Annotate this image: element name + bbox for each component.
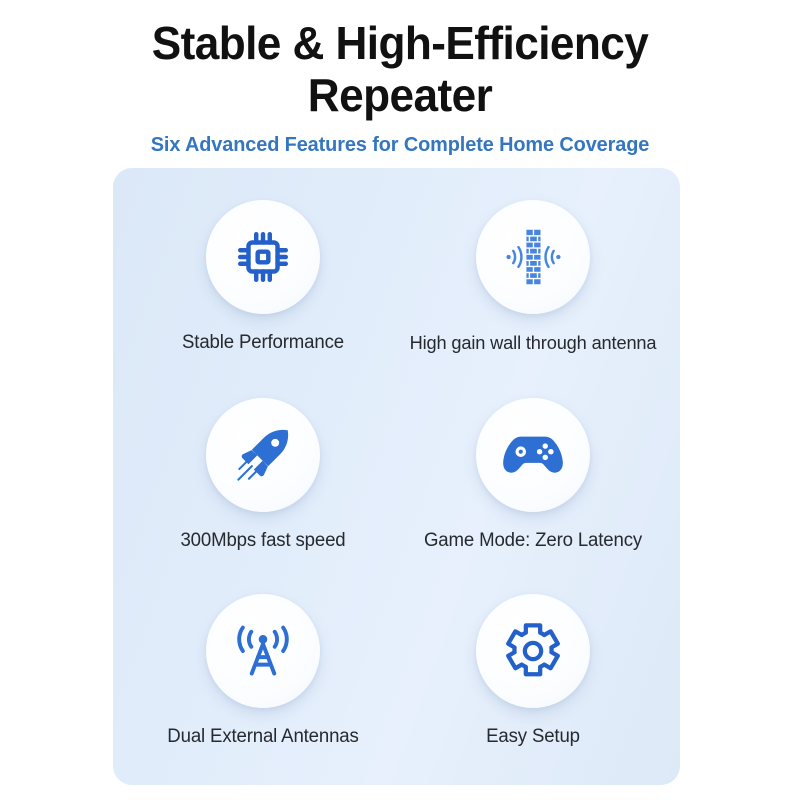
feature-icon-circle	[206, 398, 320, 512]
rocket-icon	[232, 424, 294, 486]
page-title: Stable & High-Efficiency Repeater	[16, 0, 784, 122]
broadcast-tower-icon	[231, 621, 295, 681]
page-subtitle: Six Advanced Features for Complete Home …	[12, 122, 788, 157]
feature-fast-speed[interactable]: 300Mbps fast speed	[133, 398, 393, 553]
feature-dual-antennas[interactable]: Dual External Antennas	[133, 594, 393, 749]
features-card: Stable Performance	[113, 168, 680, 785]
brick-wall-signal-icon	[500, 226, 566, 288]
feature-label: Stable Performance	[136, 331, 391, 355]
feature-label: 300Mbps fast speed	[136, 529, 391, 553]
feature-icon-circle	[476, 398, 590, 512]
feature-icon-circle	[206, 594, 320, 708]
game-controller-icon	[501, 427, 565, 483]
gear-icon	[502, 620, 564, 682]
feature-label: High gain wall through antenna	[394, 331, 672, 354]
feature-stable-performance[interactable]: Stable Performance	[133, 200, 393, 355]
feature-icon-circle	[206, 200, 320, 314]
feature-label: Easy Setup	[406, 725, 661, 749]
page-title-line-2: Repeater	[16, 70, 784, 122]
feature-wall-through-antenna[interactable]: High gain wall through antenna	[403, 200, 663, 354]
feature-icon-circle	[476, 594, 590, 708]
feature-easy-setup[interactable]: Easy Setup	[403, 594, 663, 749]
cpu-chip-icon	[232, 226, 294, 288]
feature-game-mode[interactable]: Game Mode: Zero Latency	[403, 398, 663, 553]
page-title-line-1: Stable & High-Efficiency	[16, 18, 784, 70]
feature-icon-circle	[476, 200, 590, 314]
feature-label: Dual External Antennas	[136, 725, 391, 749]
features-grid: Stable Performance	[113, 168, 680, 785]
feature-label: Game Mode: Zero Latency	[406, 529, 661, 553]
page-header: Stable & High-Efficiency Repeater Six Ad…	[0, 0, 800, 157]
